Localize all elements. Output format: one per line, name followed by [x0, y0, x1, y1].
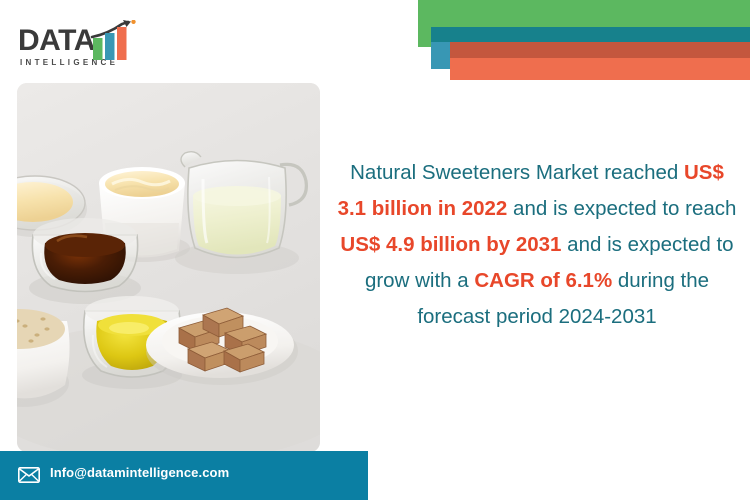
headline-highlight: US$ 4.9 billion by 2031: [340, 233, 561, 256]
hero-photo: [17, 83, 320, 452]
bar-chart-growth-icon: [90, 20, 138, 60]
headline-plain: Natural Sweeteners Market reached: [350, 161, 684, 184]
envelope-icon: [18, 467, 40, 483]
headline-plain: and is expected to reach: [507, 197, 736, 220]
headline-text: Natural Sweeteners Market reached US$ 3.…: [334, 155, 740, 335]
contact-email[interactable]: Info@datamintelligence.com: [50, 465, 229, 480]
headline-highlight: CAGR of 6.1%: [474, 269, 612, 292]
deco-bar-orange: [450, 58, 750, 80]
logo-wordmark: DATA: [18, 24, 95, 58]
sweetener-ingredients-photo: [17, 83, 320, 452]
footer-contact-bar: Info@datamintelligence.com: [0, 451, 368, 500]
brand-logo[interactable]: DATA INTELLIGENCE: [18, 14, 178, 72]
